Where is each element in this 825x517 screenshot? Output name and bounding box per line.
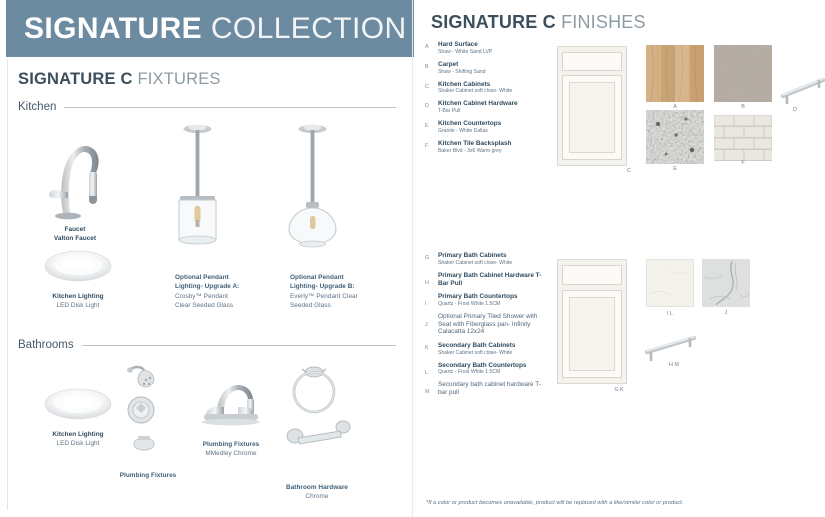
fixtures-section-title: SIGNATURE C FIXTURES — [18, 70, 221, 89]
pendant-cylinder-icon — [150, 120, 245, 250]
towel-ring-icon — [262, 360, 372, 468]
finish-title: Primary Bath Cabinet Hardware T-Bar Pull — [438, 272, 550, 288]
finishes-panel: SIGNATURE C FINISHES A Hard Surface Shaw… — [414, 0, 825, 517]
group-rule-bathrooms — [82, 345, 396, 346]
finish-title: Secondary Bath Cabinets — [438, 342, 550, 350]
finish-title: Kitchen Tile Backsplash — [438, 140, 550, 148]
finish-sub: Granite - White Dallas — [438, 128, 550, 134]
swatch-label-d: D — [786, 107, 804, 113]
faucet-icon — [30, 128, 120, 220]
finishes-list-kitchen: A Hard Surface Shaw - White Sand LVP B C… — [425, 41, 550, 160]
finish-sub: Quartz - Frost White 1.5CM — [438, 301, 550, 307]
product-kitchen-lighting: Kitchen Lighting LED Disk Light — [32, 245, 124, 311]
finish-sub: Shaker Cabinet soft close- White — [438, 88, 550, 94]
product-caption-bathroom-hardware: Bathroom Hardware Chrome — [262, 483, 372, 502]
finish-letter: I — [425, 301, 427, 307]
swatch-label-b: B — [734, 104, 752, 110]
finish-row-c: C Kitchen Cabinets Shaker Cabinet soft c… — [425, 81, 550, 95]
finish-letter: C — [425, 84, 429, 90]
left-vertical-rule — [7, 60, 8, 510]
swatch-label-f: F — [734, 160, 752, 166]
finish-sub: Quartz - Frost White 1.5CM — [438, 369, 550, 375]
product-name: Faucet — [30, 225, 120, 234]
finish-sub: T-Bar Pull — [438, 108, 550, 114]
finish-row-k: K Secondary Bath Cabinets Shaker Cabinet… — [425, 342, 550, 356]
product-pendant-upgrade-a: Optional Pendant Lighting- Upgrade A: Cr… — [150, 120, 245, 310]
carpet-texture-icon — [714, 45, 772, 102]
fixtures-title-bold: SIGNATURE C — [18, 70, 133, 88]
product-desc: Valton Faucet — [30, 234, 120, 243]
finish-row-h: H Primary Bath Cabinet Hardware T-Bar Pu… — [425, 272, 550, 288]
cabinet-inner-panel — [569, 82, 614, 153]
finish-title: Kitchen Cabinets — [438, 81, 550, 89]
finish-sub: Baker Blvd - 3x6 Warm grey — [438, 148, 550, 154]
product-caption-pendant-b: Optional Pendant Lighting- Upgrade B: Ev… — [265, 273, 360, 310]
finish-title: Secondary bath cabinet hardware T-bar pu… — [438, 381, 550, 397]
finish-letter: B — [425, 64, 429, 70]
product-desc: MMedley Chrome — [192, 449, 270, 458]
finish-letter: D — [425, 103, 429, 109]
product-bathroom-hardware: Bathroom Hardware Chrome — [262, 360, 372, 502]
finish-title: Primary Bath Cabinets — [438, 252, 550, 260]
product-desc: LED Disk Light — [32, 301, 124, 310]
finish-letter: L — [425, 370, 428, 376]
swatch-label-gk: G K — [602, 387, 636, 393]
finish-sub: Shaw - Shifting Sand — [438, 69, 550, 75]
cabinet-door-kitchen — [557, 46, 627, 166]
panel-divider — [412, 0, 413, 517]
group-header-bathrooms: Bathrooms — [18, 339, 396, 351]
finishes-title-bold: SIGNATURE C — [431, 12, 556, 32]
product-name: Optional Pendant Lighting- Upgrade B: — [290, 273, 360, 292]
product-name: Bathroom Hardware — [262, 483, 372, 492]
hero-title-bold: SIGNATURE — [24, 12, 202, 45]
cabinet-inner-panel — [569, 297, 614, 371]
finish-row-d: D Kitchen Cabinet Hardware T-Bar Pull — [425, 100, 550, 114]
swatch-tile-backsplash — [714, 115, 772, 161]
wood-plank-texture-icon — [646, 45, 704, 102]
product-caption-plumbing-lav: Plumbing Fixtures MMedley Chrome — [192, 440, 270, 459]
group-header-kitchen: Kitchen — [18, 101, 396, 113]
finish-row-a: A Hard Surface Shaw - White Sand LVP — [425, 41, 550, 55]
product-name: Optional Pendant Lighting- Upgrade A: — [175, 273, 245, 292]
cabinet-panel — [562, 290, 622, 379]
product-caption-plumbing-shower: Plumbing Fixtures — [108, 471, 188, 480]
swatch-label-j: J — [719, 310, 733, 316]
marble-texture-icon — [702, 259, 750, 307]
swatch-countertop-granite — [646, 110, 704, 164]
product-caption-faucet: Faucet Valton Faucet — [30, 225, 120, 244]
product-name: Plumbing Fixtures — [108, 471, 188, 480]
finish-row-l: L Secondary Bath Countertops Quartz - Fr… — [425, 362, 550, 376]
swatch-tiled-shower-calacatta — [702, 259, 750, 307]
finish-letter: M — [425, 389, 430, 395]
product-faucet: Faucet Valton Faucet — [30, 128, 120, 244]
signature-collection-spec-sheet: SIGNATURE COLLECTION C SIGNATURE C FIXTU… — [0, 0, 825, 517]
finishes-list-bath: G Primary Bath Cabinets Shaker Cabinet s… — [425, 252, 550, 403]
swatch-cabinet-hardware — [779, 72, 825, 106]
finish-row-b: B Carpet Shaw - Shifting Sand — [425, 61, 550, 75]
cabinet-door-bath — [557, 259, 627, 384]
product-name: Plumbing Fixtures — [192, 440, 270, 449]
finish-title: Hard Surface — [438, 41, 550, 49]
product-name: Kitchen Lighting — [32, 292, 124, 301]
fixtures-panel: SIGNATURE COLLECTION C SIGNATURE C FIXTU… — [0, 0, 414, 517]
finish-sub: Shaker Cabinet soft close- White — [438, 350, 550, 356]
finish-letter: E — [425, 123, 429, 129]
finish-sub: Shaw - White Sand LVP — [438, 49, 550, 55]
finish-title: Primary Bath Countertops — [438, 293, 550, 301]
swatch-label-c: C — [622, 168, 636, 174]
finish-letter: A — [425, 44, 429, 50]
fixtures-title-light: FIXTURES — [137, 70, 220, 88]
finish-title: Carpet — [438, 61, 550, 69]
lav-faucet-icon — [192, 373, 270, 435]
finish-title: Kitchen Countertops — [438, 120, 550, 128]
finish-row-j: J Optional Primary Tiled Shower with Sea… — [425, 313, 550, 336]
finish-row-i: I Primary Bath Countertops Quartz - Fros… — [425, 293, 550, 307]
t-bar-pull-icon — [642, 330, 702, 364]
finish-sub: Shaker Cabinet soft close- White — [438, 260, 550, 266]
subway-tile-icon — [714, 115, 772, 161]
product-desc: Everly™ Pendant Clear Seeded Glass — [290, 292, 360, 311]
finish-title: Optional Primary Tiled Shower with Seat … — [438, 313, 550, 336]
hero-title: SIGNATURE COLLECTION C — [24, 14, 437, 44]
shower-trim-icon — [108, 358, 188, 458]
finish-row-m: M Secondary bath cabinet hardware T-bar … — [425, 381, 550, 397]
swatch-carpet — [714, 45, 772, 102]
hero-title-light: COLLECTION C — [211, 12, 438, 45]
swatch-quartz-frost-white — [646, 259, 694, 307]
swatch-label-e: E — [666, 166, 684, 172]
swatch-bath-hardware — [642, 330, 702, 364]
footnote-disclaimer: *If a color or product becomes unavailab… — [426, 500, 683, 506]
swatch-label-hm: H M — [657, 362, 691, 368]
hero-banner: SIGNATURE COLLECTION C — [6, 0, 414, 57]
swatch-label-il: I L — [654, 311, 686, 317]
product-caption-pendant-a: Optional Pendant Lighting- Upgrade A: Cr… — [150, 273, 245, 310]
product-plumbing-shower: Plumbing Fixtures — [108, 358, 188, 480]
group-rule-kitchen — [64, 107, 396, 108]
quartz-texture-icon — [647, 260, 693, 306]
product-plumbing-lav-faucet: Plumbing Fixtures MMedley Chrome — [192, 373, 270, 459]
product-pendant-upgrade-b: Optional Pendant Lighting- Upgrade B: Ev… — [265, 120, 360, 310]
finish-letter: G — [425, 255, 429, 261]
finishes-title-light: FINISHES — [561, 12, 646, 32]
finish-row-g: G Primary Bath Cabinets Shaker Cabinet s… — [425, 252, 550, 266]
product-desc: Crosby™ Pendant Clear Seeded Glass — [175, 292, 245, 311]
pendant-bell-icon — [265, 120, 360, 250]
finish-title: Secondary Bath Countertops — [438, 362, 550, 370]
finish-row-f: F Kitchen Tile Backsplash Baker Blvd - 3… — [425, 140, 550, 154]
product-desc: Chrome — [262, 492, 372, 501]
cabinet-panel — [562, 75, 622, 160]
t-bar-pull-icon — [779, 72, 825, 106]
disk-light-icon — [32, 245, 124, 287]
finish-letter: F — [425, 143, 428, 149]
cabinet-drawer — [562, 265, 622, 285]
granite-texture-icon — [646, 110, 704, 164]
finish-letter: J — [425, 322, 428, 328]
swatch-hard-surface — [646, 45, 704, 102]
finish-letter: H — [425, 280, 429, 286]
group-label-kitchen: Kitchen — [18, 101, 56, 113]
finishes-section-title: SIGNATURE C FINISHES — [431, 12, 646, 33]
finish-title: Kitchen Cabinet Hardware — [438, 100, 550, 108]
finish-row-e: E Kitchen Countertops Granite - White Da… — [425, 120, 550, 134]
finish-letter: K — [425, 345, 429, 351]
product-caption-kitchen-lighting: Kitchen Lighting LED Disk Light — [32, 292, 124, 311]
cabinet-drawer — [562, 52, 622, 71]
group-label-bathrooms: Bathrooms — [18, 339, 74, 351]
